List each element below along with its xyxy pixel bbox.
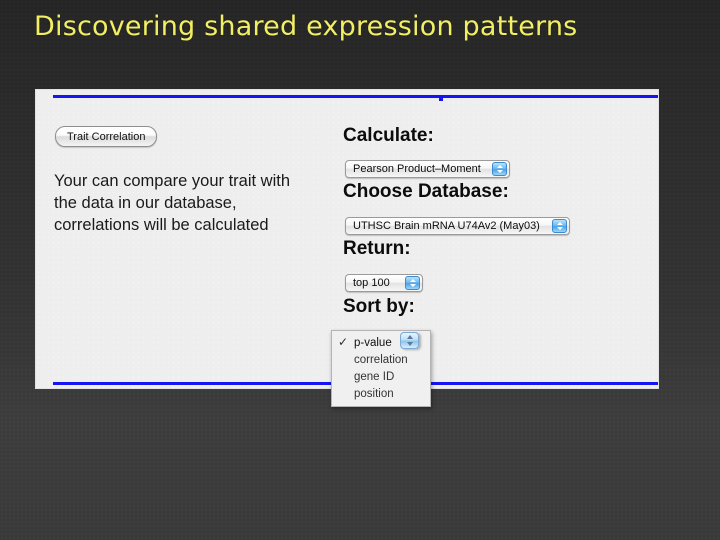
choose-database-label: Choose Database:: [343, 181, 509, 203]
menu-item-label: p-value: [354, 337, 392, 349]
sort-by-label: Sort by:: [343, 296, 415, 318]
divider-tick: [439, 95, 443, 101]
calculate-label: Calculate:: [343, 125, 434, 147]
return-select-value: top 100: [353, 277, 390, 289]
menu-item-position[interactable]: position: [332, 385, 430, 402]
menu-item-correlation[interactable]: correlation: [332, 351, 430, 368]
menu-item-label: gene ID: [354, 371, 394, 383]
chevron-updown-icon: [405, 276, 420, 290]
trait-correlation-button[interactable]: Trait Correlation: [55, 126, 157, 147]
menu-item-label: correlation: [354, 354, 408, 366]
return-label: Return:: [343, 238, 411, 260]
calculate-select[interactable]: Pearson Product–Moment: [345, 160, 510, 178]
sort-by-chevron-updown-icon[interactable]: [400, 332, 419, 349]
divider-top: [53, 95, 658, 98]
calculate-select-value: Pearson Product–Moment: [353, 163, 481, 175]
chevron-updown-icon: [552, 219, 567, 233]
description-text: Your can compare your trait with the dat…: [54, 170, 344, 236]
page-title: Discovering shared expression patterns: [34, 11, 577, 42]
menu-item-label: position: [354, 388, 394, 400]
database-select[interactable]: UTHSC Brain mRNA U74Av2 (May03): [345, 217, 570, 235]
slide: Discovering shared expression patterns T…: [0, 0, 720, 540]
check-icon: ✓: [338, 336, 348, 349]
menu-item-gene-id[interactable]: gene ID: [332, 368, 430, 385]
database-select-value: UTHSC Brain mRNA U74Av2 (May03): [353, 220, 540, 232]
chevron-updown-icon: [492, 162, 507, 176]
return-select[interactable]: top 100: [345, 274, 423, 292]
